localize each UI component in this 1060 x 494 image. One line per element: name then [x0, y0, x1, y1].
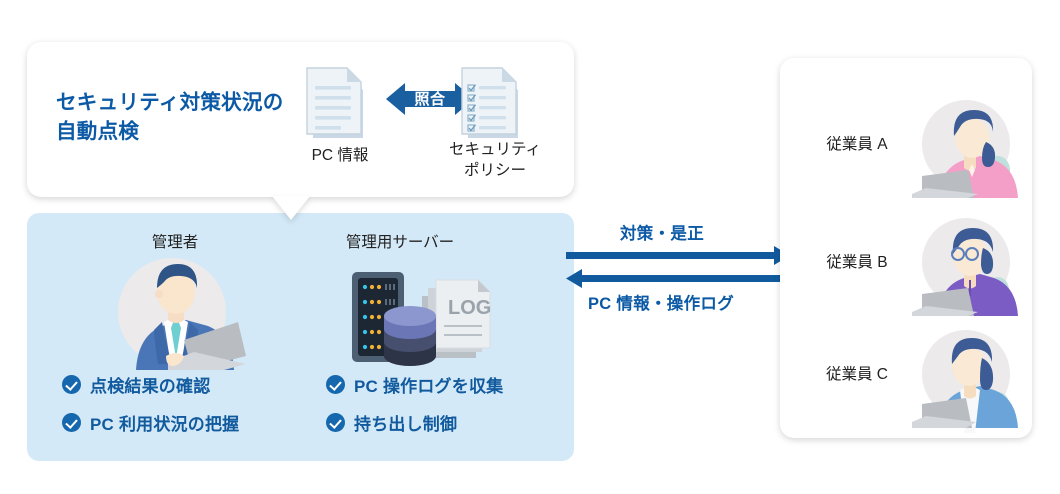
- admin-column-title: 管理者: [100, 230, 250, 252]
- server-database-log-icon: LOG: [336, 262, 506, 370]
- compare-label: 照合: [386, 88, 474, 109]
- employees-card: 従業員 A 従業員 B: [780, 58, 1032, 438]
- security-policy-caption: セキュリティ ポリシー: [424, 140, 566, 182]
- employee-c-label: 従業員 C: [808, 362, 906, 384]
- flow-arrows-group: [560, 244, 796, 290]
- admin-bullet-1: PC 利用状況の把握: [62, 410, 239, 435]
- admin-bullet-0-label: 点検結果の確認: [90, 372, 210, 397]
- check-icon: [62, 375, 81, 394]
- employee-row-c: 従業員 C: [780, 320, 1032, 432]
- employee-avatar-blue-icon: [912, 324, 1016, 428]
- admin-person-laptop-icon: [106, 252, 246, 370]
- card-headline: セキュリティ対策状況の 自動点検: [56, 88, 306, 146]
- flow-label-pcinfo-oplog: PC 情報・操作ログ: [588, 290, 734, 314]
- pc-info-document-icon: [305, 62, 375, 144]
- server-bullet-0-label: PC 操作ログを収集: [354, 372, 503, 397]
- arrow-right-icon: [566, 246, 790, 265]
- employee-a-label: 従業員 A: [808, 132, 906, 154]
- admin-bullet-1-label: PC 利用状況の把握: [90, 410, 239, 435]
- server-column-title: 管理用サーバー: [300, 230, 500, 252]
- employee-avatar-pink-icon: [912, 94, 1016, 198]
- speech-bubble-tail: [272, 196, 310, 220]
- employee-b-label: 従業員 B: [808, 250, 906, 272]
- employee-row-b: 従業員 B: [780, 208, 1032, 320]
- check-icon: [326, 375, 345, 394]
- check-icon: [326, 413, 345, 432]
- flow-label-measures: 対策・是正: [620, 220, 704, 244]
- svg-text:LOG: LOG: [448, 297, 491, 319]
- pc-info-caption: PC 情報: [290, 146, 390, 167]
- check-icon: [62, 413, 81, 432]
- employee-avatar-purple-icon: [912, 212, 1016, 316]
- employee-row-a: 従業員 A: [780, 90, 1032, 202]
- server-bullet-1: 持ち出し制御: [326, 410, 457, 435]
- admin-bullet-0: 点検結果の確認: [62, 372, 210, 397]
- server-bullet-1-label: 持ち出し制御: [354, 410, 457, 435]
- server-bullet-0: PC 操作ログを収集: [326, 372, 503, 397]
- arrow-left-icon: [566, 269, 790, 288]
- diagram-canvas: セキュリティ対策状況の 自動点検 PC 情報 照合: [0, 0, 1060, 494]
